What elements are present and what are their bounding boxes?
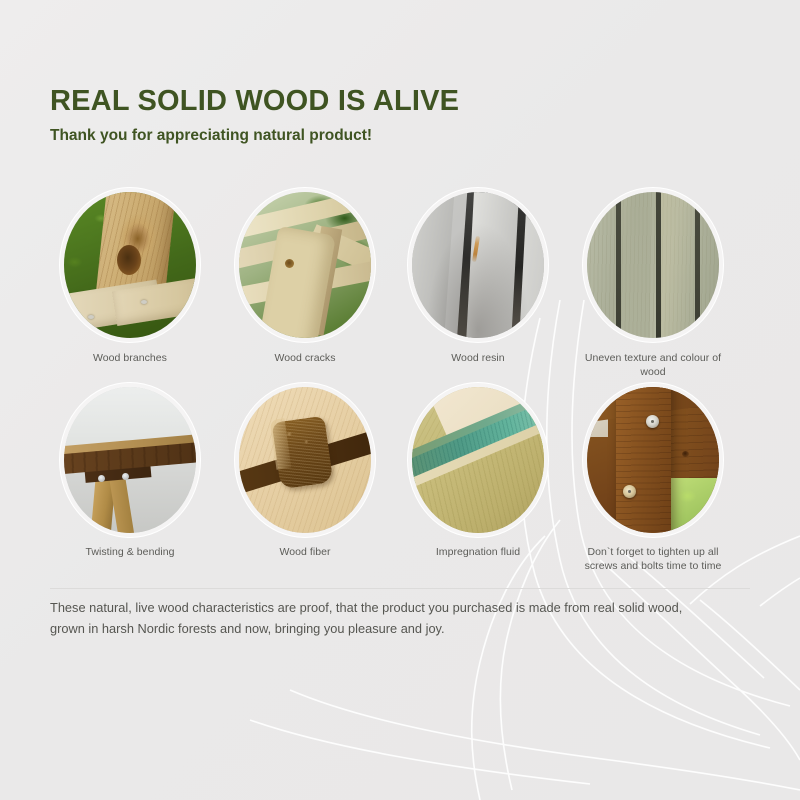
feature-caption: Wood branches [50, 351, 210, 365]
screws-bolts-photo [587, 387, 719, 533]
twisting-bending-photo [64, 387, 196, 533]
wood-cracks-photo [239, 192, 371, 338]
feature-item-tighten-screws: Don`t forget to tighten up all screws an… [573, 387, 733, 574]
impregnation-fluid-photo [412, 387, 544, 533]
feature-item-wood-resin: Wood resin [398, 192, 558, 365]
feature-item-wood-cracks: Wood cracks [225, 192, 385, 365]
feature-grid: Wood branches Wood cracks [50, 192, 750, 582]
feature-item-wood-branches: Wood branches [50, 192, 210, 365]
footer-divider [50, 588, 750, 589]
feature-item-wood-fiber: Wood fiber [225, 387, 385, 559]
uneven-texture-photo [587, 192, 719, 338]
feature-caption: Twisting & bending [50, 545, 210, 559]
feature-caption: Wood fiber [225, 545, 385, 559]
feature-caption: Impregnation fluid [398, 545, 558, 559]
wood-branches-photo [64, 192, 196, 338]
feature-caption: Wood resin [398, 351, 558, 365]
feature-caption: Don`t forget to tighten up all screws an… [573, 545, 733, 574]
feature-row-1: Wood branches Wood cracks [50, 192, 750, 387]
feature-item-twisting-bending: Twisting & bending [50, 387, 210, 559]
footer-paragraph: These natural, live wood characteristics… [50, 598, 690, 639]
wood-resin-photo [412, 192, 544, 338]
header: REAL SOLID WOOD IS ALIVE Thank you for a… [50, 86, 459, 145]
feature-caption: Uneven texture and colour of wood [573, 351, 733, 380]
wood-fiber-photo [239, 387, 371, 533]
feature-item-impregnation-fluid: Impregnation fluid [398, 387, 558, 559]
page-title: REAL SOLID WOOD IS ALIVE [50, 86, 459, 116]
infographic-page: REAL SOLID WOOD IS ALIVE Thank you for a… [0, 0, 800, 800]
page-subtitle: Thank you for appreciating natural produ… [50, 127, 459, 145]
feature-caption: Wood cracks [225, 351, 385, 365]
feature-row-2: Twisting & bending Wood fiber [50, 387, 750, 582]
feature-item-uneven-texture: Uneven texture and colour of wood [573, 192, 733, 380]
screw-icon [623, 485, 636, 498]
